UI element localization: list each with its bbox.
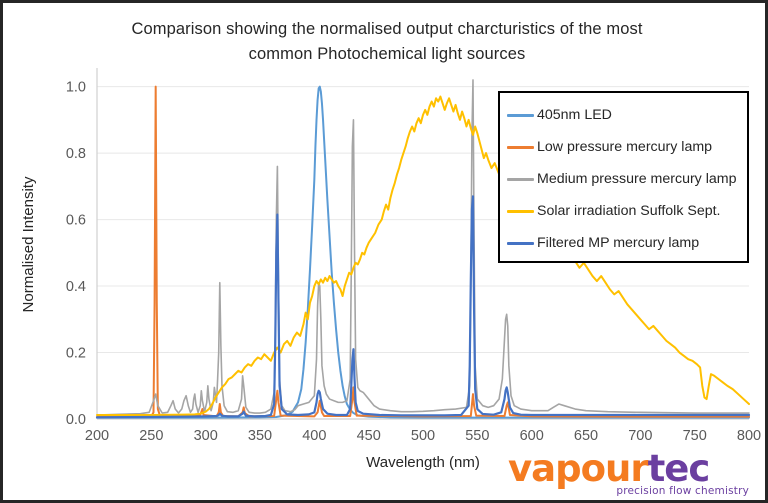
legend-color-swatch xyxy=(507,210,534,213)
logo-wordmark: vapourtec xyxy=(508,451,753,487)
legend-item-label: Filtered MP mercury lamp xyxy=(537,235,699,251)
x-tick-label: 800 xyxy=(737,428,761,444)
y-tick-label: 0.8 xyxy=(66,146,86,162)
chart-legend: 405nm LEDLow pressure mercury lampMedium… xyxy=(498,91,749,263)
x-tick-label: 450 xyxy=(357,428,381,444)
y-tick-label: 0.6 xyxy=(66,213,86,229)
legend-item[interactable]: Low pressure mercury lamp xyxy=(500,131,747,163)
y-tick-label: 0.0 xyxy=(66,412,86,428)
x-tick-label: 600 xyxy=(520,428,544,444)
logo-vapour-text: vapour xyxy=(508,447,648,490)
legend-color-swatch xyxy=(507,242,534,245)
legend-item-label: Low pressure mercury lamp xyxy=(537,139,712,155)
legend-item-label: Solar irradiation Suffolk Sept. xyxy=(537,203,721,219)
vapourtec-logo: vapourtec precision flow chemistry xyxy=(508,451,753,499)
legend-color-swatch xyxy=(507,178,534,181)
x-tick-label: 250 xyxy=(139,428,163,444)
x-tick-label: 550 xyxy=(465,428,489,444)
x-tick-label: 300 xyxy=(194,428,218,444)
legend-item[interactable]: Solar irradiation Suffolk Sept. xyxy=(500,195,747,227)
legend-item[interactable]: Filtered MP mercury lamp xyxy=(500,227,747,259)
x-tick-label: 200 xyxy=(85,428,109,444)
y-tick-label: 1.0 xyxy=(66,80,86,96)
x-tick-label: 400 xyxy=(302,428,326,444)
x-tick-label: 350 xyxy=(248,428,272,444)
legend-item-label: Medium pressure mercury lamp xyxy=(537,171,736,187)
legend-color-swatch xyxy=(507,146,534,149)
legend-item[interactable]: 405nm LED xyxy=(500,99,747,131)
y-tick-label: 0.2 xyxy=(66,346,86,362)
legend-item-label: 405nm LED xyxy=(537,107,612,123)
y-axis-title: Normalised Intensity xyxy=(20,176,37,312)
chart-figure: Comparison showing the normalised output… xyxy=(0,0,768,503)
x-tick-label: 700 xyxy=(628,428,652,444)
legend-item[interactable]: Medium pressure mercury lamp xyxy=(500,163,747,195)
x-tick-label: 750 xyxy=(683,428,707,444)
x-tick-label: 650 xyxy=(574,428,598,444)
legend-color-swatch xyxy=(507,114,534,117)
logo-tec-text: tec xyxy=(648,447,710,490)
x-axis-title: Wavelength (nm) xyxy=(366,454,480,471)
x-tick-label: 500 xyxy=(411,428,435,444)
y-tick-label: 0.4 xyxy=(66,279,86,295)
